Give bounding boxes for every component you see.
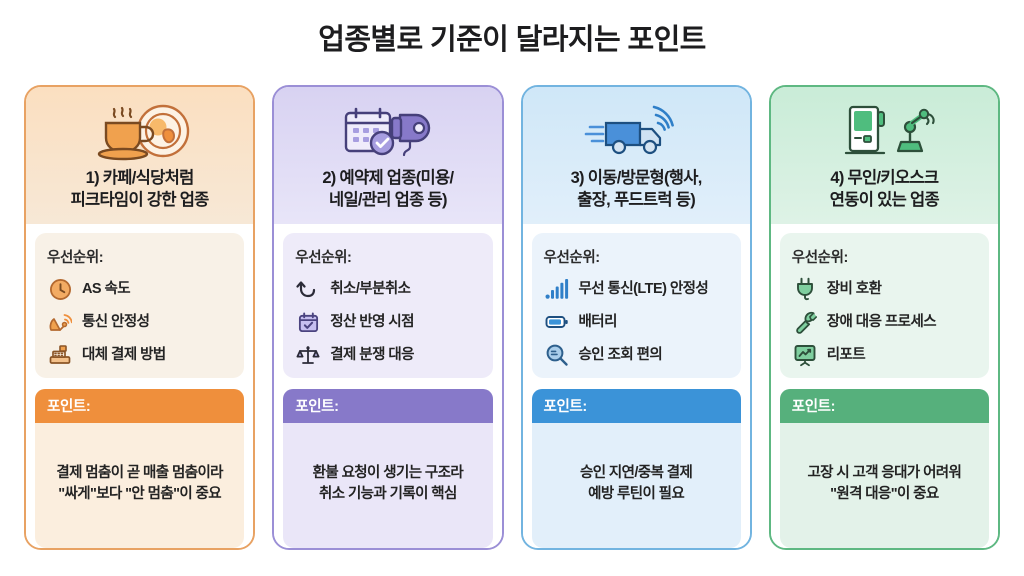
- card-title: 2) 예약제 업종(미용/ 네일/관리 업종 등): [322, 168, 453, 212]
- priority-text: 배터리: [579, 314, 617, 331]
- priority-text: AS 속도: [82, 281, 130, 298]
- balance-scale-icon: [295, 343, 321, 367]
- card-header: 2) 예약제 업종(미용/ 네일/관리 업종 등): [274, 87, 501, 225]
- card-header: 3) 이동/방문형(행사, 출장, 푸드트럭 등): [523, 87, 750, 225]
- priority-list: AS 속도 통신 안정성: [47, 277, 232, 367]
- card-body: 우선순위: AS 속도: [26, 224, 253, 547]
- priority-item: 정산 반영 시점: [295, 310, 480, 334]
- priority-panel: 우선순위: 장비 호환: [780, 233, 989, 378]
- priority-item: 장비 호환: [792, 277, 977, 301]
- point-block: 포인트: 결제 멈춤이 곧 매출 멈춤이라 "싸게"보다 "안 멈춤"이 중요: [35, 389, 244, 547]
- priority-item: 배터리: [544, 310, 729, 334]
- priority-text: 승인 조회 편의: [579, 347, 663, 364]
- card-kiosk-unmanned-business: 4) 무인/키오스크 연동이 있는 업종 우선순위:: [769, 85, 1000, 550]
- priority-text: 리포트: [827, 347, 865, 364]
- point-block: 포인트: 승인 지연/중복 결제 예방 루틴이 필요: [532, 389, 741, 547]
- priority-panel: 우선순위: 취소/부분취소 정산 반영 시점: [283, 233, 492, 378]
- point-label: 포인트:: [532, 389, 741, 423]
- priority-item: 취소/부분취소: [295, 277, 480, 301]
- satellite-dish-icon: [47, 310, 73, 334]
- point-text: 고장 시 고객 응대가 어려워 "원격 대응"이 중요: [780, 423, 989, 547]
- point-label: 포인트:: [780, 389, 989, 423]
- coffee-cup-and-plate-icon: [84, 101, 196, 163]
- priority-list: 취소/부분취소 정산 반영 시점: [295, 277, 480, 367]
- priority-label: 우선순위:: [544, 246, 729, 267]
- point-text: 승인 지연/중복 결제 예방 루틴이 필요: [532, 423, 741, 547]
- clock-icon: [47, 277, 73, 301]
- priority-panel: 우선순위:: [532, 233, 741, 378]
- card-reservation-business: 2) 예약제 업종(미용/ 네일/관리 업종 등) 우선순위: 취소/부분취소: [272, 85, 503, 550]
- priority-label: 우선순위:: [295, 246, 480, 267]
- priority-text: 대체 결제 방법: [82, 347, 166, 364]
- card-title: 1) 카페/식당처럼 피크타임이 강한 업종: [71, 168, 209, 212]
- priority-item: 승인 조회 편의: [544, 343, 729, 367]
- priority-item: 장애 대응 프로세스: [792, 310, 977, 334]
- point-label: 포인트:: [283, 389, 492, 423]
- point-block: 포인트: 고장 시 고객 응대가 어려워 "원격 대응"이 중요: [780, 389, 989, 547]
- priority-label: 우선순위:: [47, 246, 232, 267]
- card-body: 우선순위:: [523, 224, 750, 547]
- signal-bars-icon: [544, 277, 570, 301]
- delivery-truck-signal-icon: [580, 101, 692, 163]
- priority-label: 우선순위:: [792, 246, 977, 267]
- card-row: 1) 카페/식당처럼 피크타임이 강한 업종 우선순위: AS 속도: [24, 85, 1000, 550]
- magnifier-search-icon: [544, 343, 570, 367]
- priority-item: 통신 안정성: [47, 310, 232, 334]
- card-title: 4) 무인/키오스크 연동이 있는 업종: [830, 168, 939, 212]
- point-text: 결제 멈춤이 곧 매출 멈춤이라 "싸게"보다 "안 멈춤"이 중요: [35, 423, 244, 547]
- priority-text: 정산 반영 시점: [330, 314, 414, 331]
- priority-item: AS 속도: [47, 277, 232, 301]
- priority-text: 장비 호환: [827, 281, 882, 298]
- infographic-page: 업종별로 기준이 달라지는 포인트 1) 카페/식당: [0, 0, 1024, 576]
- card-title: 3) 이동/방문형(행사, 출장, 푸드트럭 등): [571, 168, 702, 212]
- card-header: 1) 카페/식당처럼 피크타임이 강한 업종: [26, 87, 253, 225]
- priority-item: 대체 결제 방법: [47, 343, 232, 367]
- card-body: 우선순위: 취소/부분취소 정산 반영 시점: [274, 224, 501, 547]
- calendar-check-and-hairdryer-icon: [332, 101, 444, 163]
- card-body: 우선순위: 장비 호환: [771, 224, 998, 547]
- calendar-check-icon: [295, 310, 321, 334]
- priority-item: 결제 분쟁 대응: [295, 343, 480, 367]
- priority-text: 장애 대응 프로세스: [827, 314, 936, 331]
- point-block: 포인트: 환불 요청이 생기는 구조라 취소 기능과 기록이 핵심: [283, 389, 492, 547]
- battery-icon: [544, 310, 570, 334]
- priority-item: 무선 통신(LTE) 안정성: [544, 277, 729, 301]
- priority-list: 장비 호환 장애 대응 프로세스: [792, 277, 977, 367]
- undo-arrow-icon: [295, 277, 321, 301]
- report-chart-icon: [792, 343, 818, 367]
- card-header: 4) 무인/키오스크 연동이 있는 업종: [771, 87, 998, 225]
- wrench-icon: [792, 310, 818, 334]
- priority-text: 취소/부분취소: [330, 281, 410, 298]
- cash-register-icon: [47, 343, 73, 367]
- card-cafe-restaurant: 1) 카페/식당처럼 피크타임이 강한 업종 우선순위: AS 속도: [24, 85, 255, 550]
- priority-panel: 우선순위: AS 속도: [35, 233, 244, 378]
- power-plug-icon: [792, 277, 818, 301]
- priority-text: 통신 안정성: [82, 314, 149, 331]
- card-mobile-visiting-business: 3) 이동/방문형(행사, 출장, 푸드트럭 등) 우선순위:: [521, 85, 752, 550]
- priority-text: 결제 분쟁 대응: [330, 347, 414, 364]
- priority-list: 무선 통신(LTE) 안정성 배터리: [544, 277, 729, 367]
- point-text: 환불 요청이 생기는 구조라 취소 기능과 기록이 핵심: [283, 423, 492, 547]
- page-title: 업종별로 기준이 달라지는 포인트: [24, 23, 1000, 58]
- kiosk-and-robot-arm-icon: [828, 101, 940, 163]
- priority-text: 무선 통신(LTE) 안정성: [579, 281, 709, 298]
- point-label: 포인트:: [35, 389, 244, 423]
- priority-item: 리포트: [792, 343, 977, 367]
